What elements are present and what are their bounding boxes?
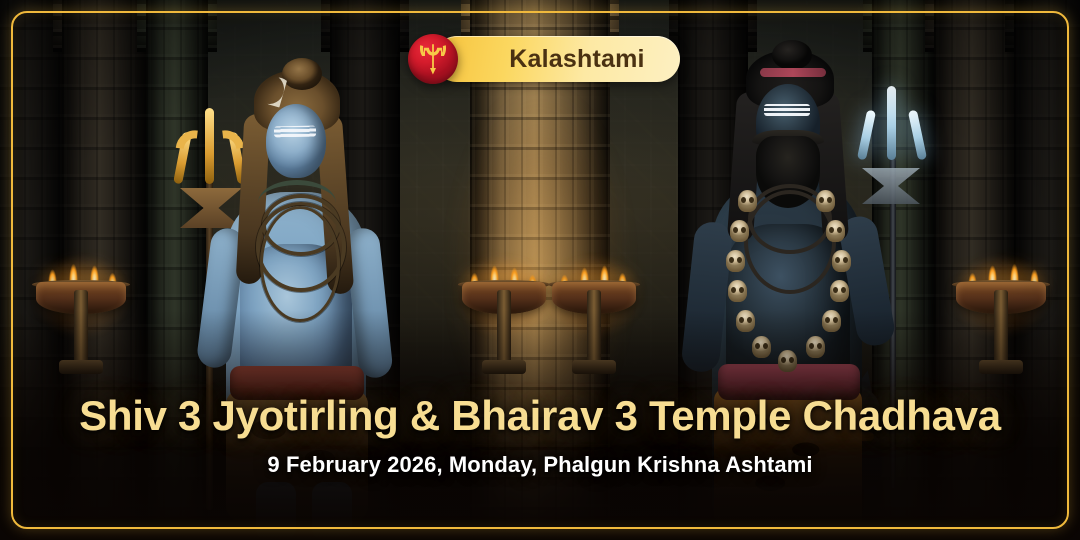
shiva-trident-icon bbox=[178, 108, 242, 184]
bhairav-tripundra-tilak bbox=[764, 104, 810, 116]
shiva-leg-left bbox=[256, 482, 296, 540]
bhairav-head-band bbox=[760, 68, 826, 77]
shiva-tripundra-tilak bbox=[274, 126, 316, 138]
badge-pill: Kalashtami bbox=[434, 36, 680, 82]
shiva-hair-bun bbox=[282, 58, 322, 90]
trident-icon bbox=[418, 43, 448, 75]
diya-lamp-center-left bbox=[462, 268, 546, 368]
kalashtami-badge[interactable]: Kalashtami bbox=[408, 34, 458, 84]
badge-label: Kalashtami bbox=[509, 45, 644, 74]
diya-lamp-center-right bbox=[552, 268, 636, 368]
kalashtami-banner: Kalashtami Shiv 3 Jyotirling & Bhairav 3… bbox=[0, 0, 1080, 540]
page-title: Shiv 3 Jyotirling & Bhairav 3 Temple Cha… bbox=[0, 394, 1080, 439]
bhairav-damaru-icon bbox=[862, 168, 920, 204]
bhairav-skull-garland bbox=[722, 188, 854, 388]
bhairav-trident-icon bbox=[862, 86, 922, 160]
bhairav-hair-bun bbox=[772, 40, 812, 70]
diya-lamp-far-right bbox=[956, 268, 1046, 368]
diya-lamp-far-left bbox=[36, 268, 126, 368]
badge-icon-circle bbox=[408, 34, 458, 84]
shiva-leg-right bbox=[312, 482, 352, 540]
shiva-rudraksha-mala-3 bbox=[260, 206, 340, 322]
banner-text-block: Shiv 3 Jyotirling & Bhairav 3 Temple Cha… bbox=[0, 394, 1080, 478]
shiva-head bbox=[266, 104, 326, 178]
page-subtitle: 9 February 2026, Monday, Phalgun Krishna… bbox=[0, 452, 1080, 478]
